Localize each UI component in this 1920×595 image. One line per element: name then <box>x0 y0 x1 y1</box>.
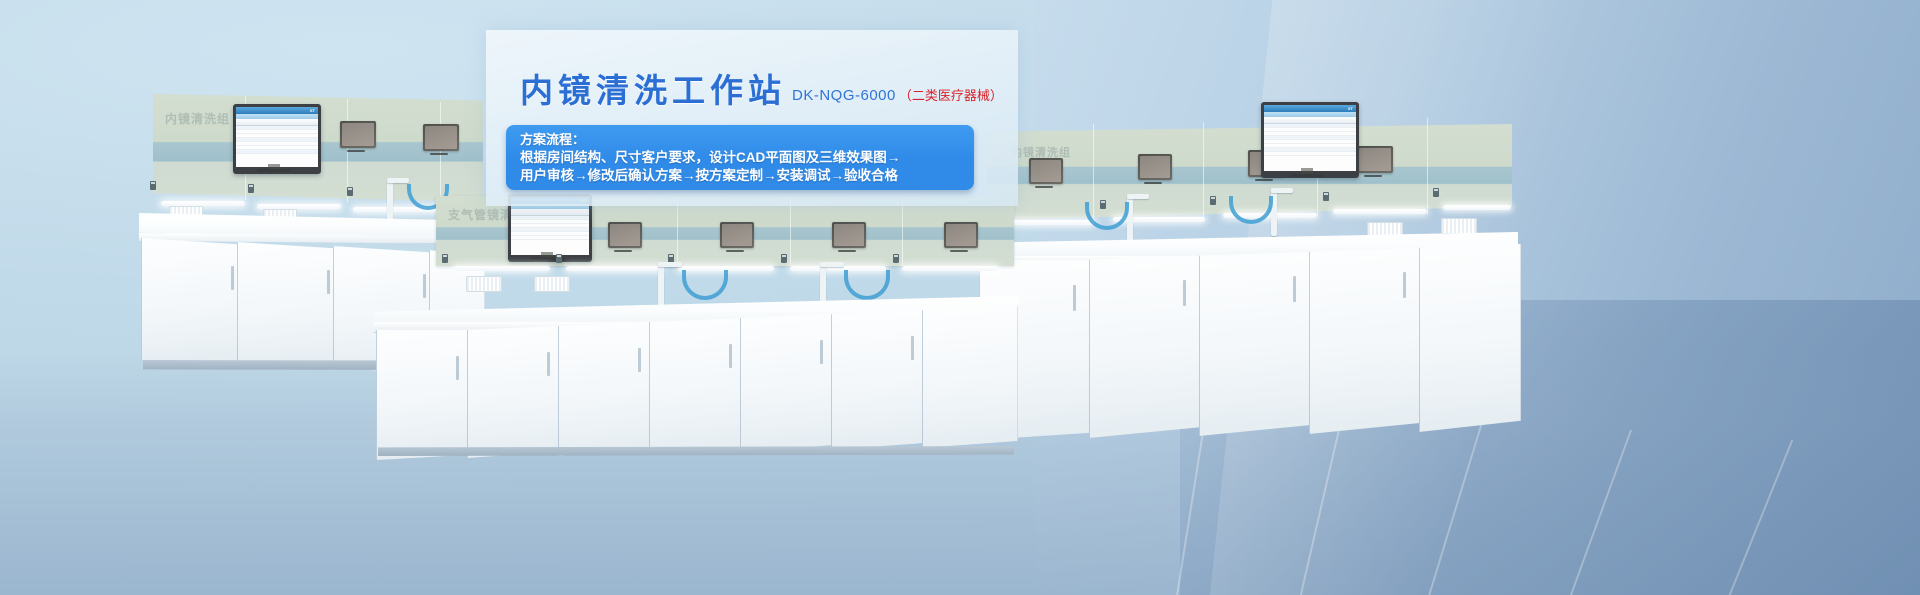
screen-row <box>1264 152 1356 156</box>
center-faucet-2-spout <box>820 262 844 267</box>
center-hose-loop-2 <box>844 270 890 300</box>
right-unit-screen: XT <box>1264 105 1356 171</box>
center-unit-monitor-4[interactable] <box>944 222 978 248</box>
process-step-line-1: 根据房间结构、尺寸客户要求，设计CAD平面图及三维效果图→ <box>520 149 964 167</box>
center-panel-seam-3 <box>790 196 791 266</box>
right-cabinet-handle-4[interactable] <box>1403 272 1406 298</box>
left-unit-screen: XT <box>236 107 318 167</box>
center-unit-monitor-3-base <box>838 250 856 252</box>
product-center-unit: 支气管镜清洗组 XT <box>370 196 1020 476</box>
process-heading: 方案流程： <box>520 131 964 149</box>
right-cabinet-handle-1[interactable] <box>1073 285 1076 311</box>
center-unit-monitor-2-base <box>726 250 744 252</box>
process-info-box: 方案流程： 根据房间结构、尺寸客户要求，设计CAD平面图及三维效果图→ 用户审核… <box>506 125 974 190</box>
right-panel-seam-2 <box>1203 122 1204 218</box>
screen-toolbar <box>236 119 318 126</box>
right-unit-monitor-4[interactable] <box>1357 146 1393 173</box>
left-unit-socket-1[interactable] <box>150 181 156 190</box>
right-unit-lightbar-5 <box>1443 205 1511 210</box>
right-panel-seam-4 <box>1427 118 1428 214</box>
center-cabinet-handle-2[interactable] <box>547 352 550 376</box>
right-cabinet-handle-2[interactable] <box>1183 280 1186 306</box>
center-cabinet-4[interactable] <box>649 318 742 454</box>
right-hose-loop-2 <box>1229 196 1273 224</box>
left-unit-monitor-2-base <box>430 153 448 155</box>
right-unit-workstation-monitor[interactable]: XT <box>1261 102 1359 178</box>
center-panel-seam-4 <box>902 196 903 266</box>
center-unit-lightbar-2 <box>566 266 662 271</box>
right-unit-monitor-4-base <box>1364 175 1382 177</box>
right-unit-monitor-2[interactable] <box>1138 154 1172 180</box>
screen-row <box>236 150 318 154</box>
center-unit-socket-4[interactable] <box>781 254 787 263</box>
left-faucet-1-spout <box>387 178 409 183</box>
right-hose-loop-1 <box>1085 202 1129 230</box>
left-unit-monitor-2[interactable] <box>423 124 459 151</box>
center-tray-2 <box>534 276 570 292</box>
center-unit-monitor-1[interactable] <box>608 222 642 248</box>
screen-titlebar <box>1264 105 1356 112</box>
right-unit-socket-2[interactable] <box>1210 196 1216 205</box>
right-unit-socket-4[interactable] <box>1433 188 1439 197</box>
screen-toolbar <box>511 209 589 216</box>
center-unit-socket-5[interactable] <box>893 254 899 263</box>
product-right-unit: 内镜清洗组 XT <box>965 110 1525 490</box>
screen-badge: XT <box>1348 106 1353 111</box>
center-unit-lightbar-1 <box>454 266 550 271</box>
center-cabinet-handle-1[interactable] <box>456 356 459 380</box>
right-cabinet-5[interactable] <box>1419 244 1521 432</box>
left-unit-socket-3[interactable] <box>347 187 353 196</box>
right-unit-monitor-2-base <box>1144 182 1162 184</box>
center-unit-lightbar-5 <box>902 266 998 271</box>
certification-badge: （二类医疗器械） <box>899 85 1003 107</box>
product-model: DK-NQG-6000 <box>792 87 896 107</box>
right-unit-lightbar-4 <box>1333 209 1427 214</box>
center-cabinet-handle-6[interactable] <box>911 336 914 360</box>
center-unit-socket-2[interactable] <box>556 254 562 263</box>
right-monitor-base <box>1290 174 1324 177</box>
right-tray-2 <box>1441 218 1477 234</box>
left-unit-panel-label: 内镜清洗组 <box>165 110 230 127</box>
left-cabinet-handle-1[interactable] <box>231 266 234 290</box>
center-faucet-1-spout <box>658 262 682 267</box>
screen-badge: XT <box>310 108 315 113</box>
page-title: 内镜清洗工作站 <box>520 74 786 107</box>
right-unit-monitor-1-base <box>1035 186 1053 188</box>
right-faucet-1-spout <box>1127 194 1149 199</box>
left-cabinet-handle-2[interactable] <box>327 270 330 294</box>
right-unit-monitor-3-base <box>1255 179 1273 181</box>
center-unit-monitor-1-base <box>614 250 632 252</box>
center-cabinet-6[interactable] <box>831 310 924 450</box>
left-unit-monitor-1-base <box>347 150 365 152</box>
screen-toolbar <box>1264 117 1356 124</box>
center-cabinet-3[interactable] <box>558 322 651 456</box>
center-cabinet-handle-3[interactable] <box>638 348 641 372</box>
left-cabinet-1[interactable] <box>141 238 239 366</box>
center-cabinet-handle-4[interactable] <box>729 344 732 368</box>
product-banner: 内镜清洗组 XT <box>0 0 1920 595</box>
center-unit-monitor-4-base <box>950 250 968 252</box>
center-unit-socket-1[interactable] <box>442 254 448 263</box>
center-unit-monitor-3[interactable] <box>832 222 866 248</box>
title-heading-row: 内镜清洗工作站 DK-NQG-6000 （二类医疗器械） <box>520 74 1003 107</box>
center-cabinet-2[interactable] <box>467 326 560 458</box>
left-unit-monitor-1[interactable] <box>340 121 376 148</box>
center-cabinet-handle-5[interactable] <box>820 340 823 364</box>
process-step-line-2: 用户审核→修改后确认方案→按方案定制→安装调试→验收合格 <box>520 167 964 185</box>
center-cabinet-1[interactable] <box>376 330 469 460</box>
left-unit-socket-2[interactable] <box>248 184 254 193</box>
screen-row <box>511 236 589 240</box>
center-unit-toe-kick <box>378 446 1014 456</box>
right-cabinet-handle-3[interactable] <box>1293 276 1296 302</box>
center-cabinet-5[interactable] <box>740 314 833 452</box>
right-unit-socket-3[interactable] <box>1323 192 1329 201</box>
center-panel-seam-2 <box>677 196 678 266</box>
right-unit-monitor-1[interactable] <box>1029 158 1063 184</box>
left-cabinet-2[interactable] <box>237 242 335 370</box>
right-faucet-2-spout <box>1271 188 1293 193</box>
left-monitor-base <box>257 169 291 172</box>
center-hose-loop-1 <box>682 270 728 300</box>
screen-titlebar <box>236 107 318 114</box>
center-tray-1 <box>466 276 502 292</box>
center-cabinet-7[interactable] <box>922 306 1018 448</box>
center-unit-monitor-2[interactable] <box>720 222 754 248</box>
